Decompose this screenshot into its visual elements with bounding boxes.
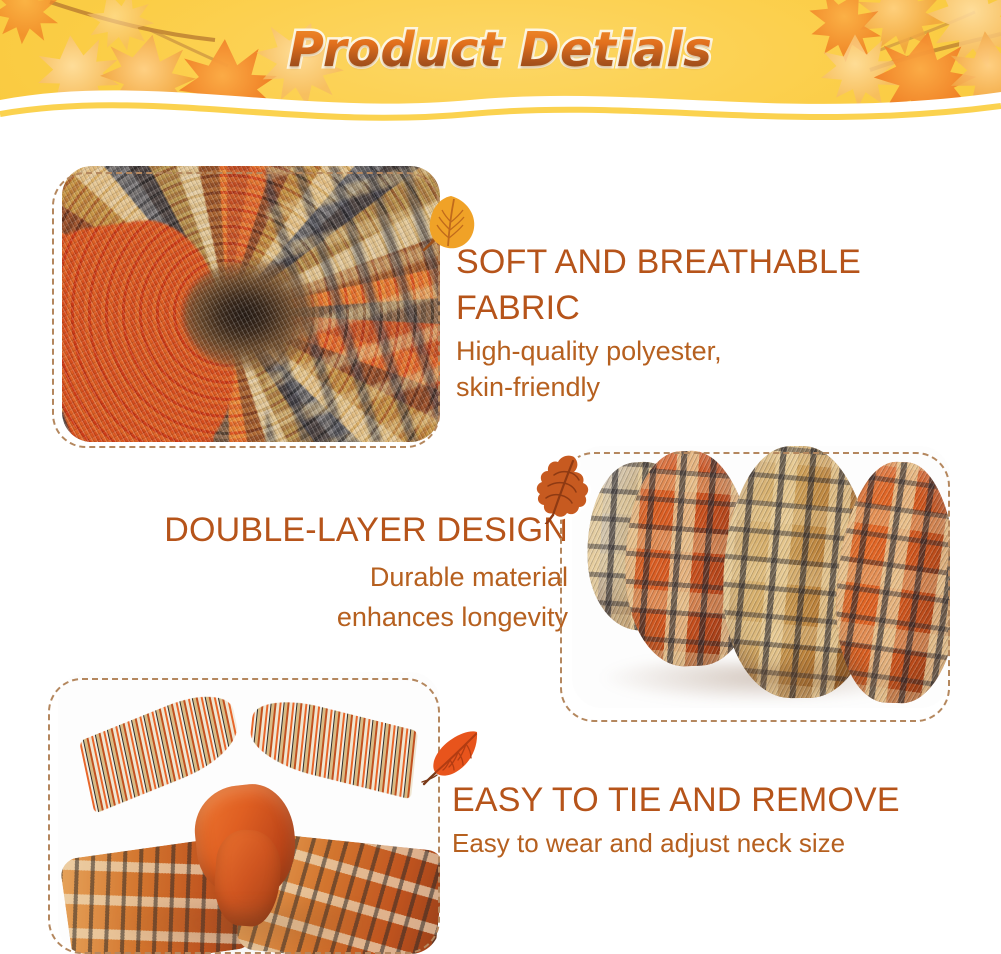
folded-plaid-rolls-photo — [572, 446, 950, 708]
feature-heading: DOUBLE-LAYER DESIGN — [20, 508, 568, 554]
red-leaf-icon — [420, 728, 482, 788]
feature-heading: EASY TO TIE AND REMOVE — [452, 778, 992, 824]
feature-image-card-folded — [560, 452, 950, 722]
page-title: Product Detials — [289, 22, 713, 78]
feature-text-easy-to-tie-and-remove: EASY TO TIE AND REMOVE Easy to wear and … — [452, 778, 992, 860]
feature-subtext-line2: enhances longevity — [20, 600, 568, 635]
aspen-leaf-icon — [418, 192, 480, 256]
feature-subtext-line1: Easy to wear and adjust neck size — [452, 827, 992, 860]
feature-text-soft-breathable-fabric: SOFT AND BREATHABLE FABRIC High-quality … — [456, 240, 986, 405]
feature-subtext-line2: skin-friendly — [456, 370, 986, 405]
photo-drop-shadow — [602, 661, 920, 703]
swirled-plaid-fabric-photo — [62, 166, 440, 442]
feature-text-double-layer-design: DOUBLE-LAYER DESIGN Durable material enh… — [20, 508, 568, 635]
banner-wave-divider — [0, 70, 1001, 132]
feature-image-card-fabric — [52, 172, 440, 448]
banner-title-wrapper: Product Detials Product Detials — [0, 22, 1001, 78]
feature-subtext-line1: High-quality polyester, — [456, 334, 986, 369]
tied-scarf-knot-photo — [58, 672, 440, 954]
feature-heading: SOFT AND BREATHABLE FABRIC — [456, 240, 956, 332]
photo-drop-shadow — [111, 903, 386, 954]
feature-image-card-knot — [48, 678, 440, 954]
fabric-weave-texture — [62, 166, 440, 442]
page-header-banner: Product Detials Product Detials — [0, 0, 1001, 132]
oak-leaf-icon — [527, 452, 597, 524]
feature-subtext-line1: Durable material — [20, 560, 568, 595]
